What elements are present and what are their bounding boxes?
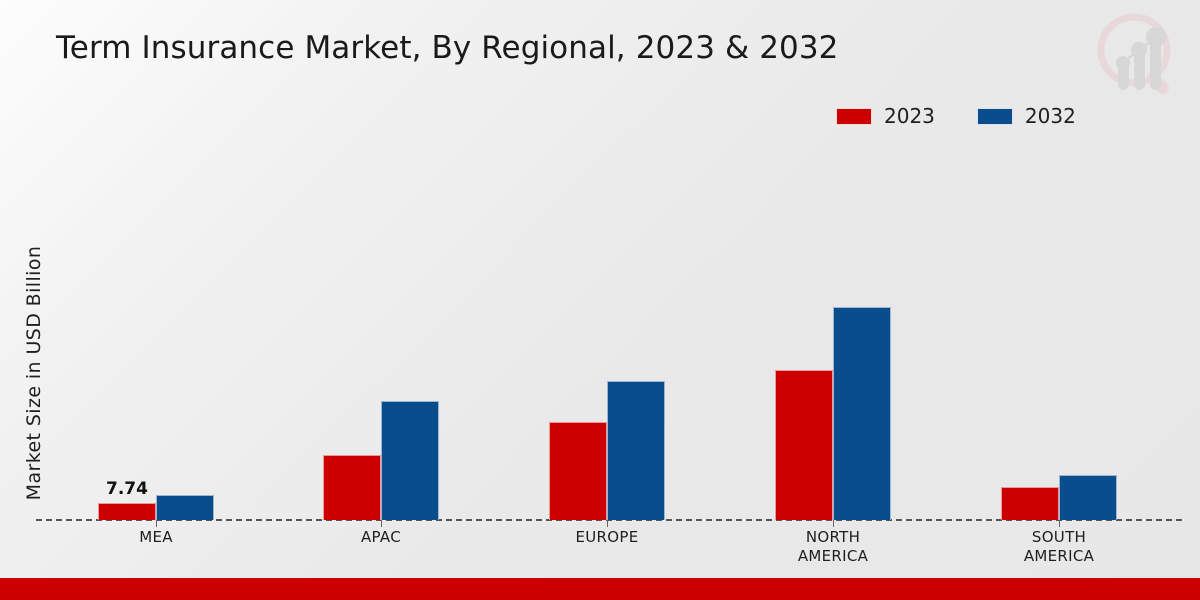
bar-group-north-america: NORTH AMERICA — [774, 140, 892, 520]
page-title: Term Insurance Market, By Regional, 2023… — [56, 30, 839, 66]
x-axis-tick — [381, 520, 382, 527]
magnifier-bar-chart-icon — [1090, 8, 1186, 104]
x-axis-tick — [1059, 520, 1060, 527]
x-axis-tick — [607, 520, 608, 527]
legend-label-2032: 2032 — [1025, 106, 1076, 126]
x-axis-label-mea: MEA — [139, 528, 173, 547]
plot-area: 7.74MEAAPACEUROPENORTH AMERICASOUTH AMER… — [36, 140, 1182, 520]
bar-2023-south-america[interactable] — [1001, 487, 1059, 520]
bar-2023-north-america[interactable] — [775, 370, 833, 520]
legend-item-2023[interactable]: 2023 — [836, 106, 935, 126]
bar-2032-north-america[interactable] — [833, 307, 891, 520]
legend-item-2032[interactable]: 2032 — [977, 106, 1076, 126]
watermark-logo — [1090, 8, 1186, 104]
x-axis-label-south-america: SOUTH AMERICA — [1024, 528, 1094, 566]
bar-2023-mea[interactable]: 7.74 — [98, 503, 156, 520]
bar-2032-mea[interactable] — [156, 495, 214, 520]
x-axis-label-north-america: NORTH AMERICA — [798, 528, 868, 566]
x-axis-label-apac: APAC — [361, 528, 401, 547]
legend-label-2023: 2023 — [884, 106, 935, 126]
bar-2032-europe[interactable] — [607, 381, 665, 520]
bar-2032-apac[interactable] — [381, 401, 439, 520]
bar-2023-apac[interactable] — [323, 455, 381, 520]
bar-group-mea: 7.74MEA — [97, 140, 215, 520]
x-axis-tick — [833, 520, 834, 527]
bar-2032-south-america[interactable] — [1059, 475, 1117, 520]
bar-group-south-america: SOUTH AMERICA — [1000, 140, 1118, 520]
bar-group-apac: APAC — [322, 140, 440, 520]
legend-swatch-2023 — [836, 108, 872, 125]
x-axis-tick — [156, 520, 157, 527]
footer-bar — [0, 578, 1200, 600]
bar-value-label: 7.74 — [106, 479, 148, 499]
bar-group-europe: EUROPE — [548, 140, 666, 520]
x-axis-label-europe: EUROPE — [575, 528, 638, 547]
chart-legend: 2023 2032 — [836, 103, 1076, 129]
bar-2023-europe[interactable] — [549, 422, 607, 520]
legend-swatch-2032 — [977, 108, 1013, 125]
chart-container: Term Insurance Market, By Regional, 2023… — [0, 0, 1200, 600]
